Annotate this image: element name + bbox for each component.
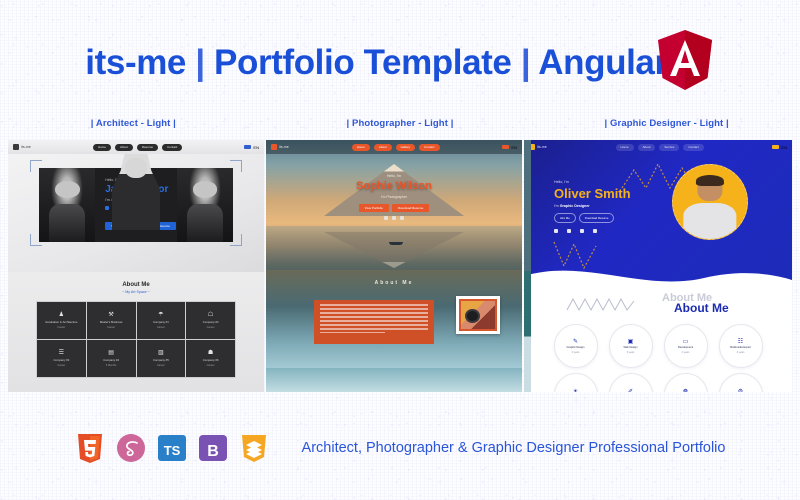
card-icon: ⚙: [738, 389, 743, 392]
designer-name: Oliver Smith: [554, 186, 631, 201]
facebook-icon[interactable]: [384, 216, 388, 220]
card-title: Company #3: [53, 358, 69, 362]
designer-logo[interactable]: its-me: [529, 144, 547, 150]
designer-card[interactable]: ☀ Creativity: [554, 373, 598, 392]
angular-logo: [655, 28, 715, 92]
instagram-icon[interactable]: [400, 216, 404, 220]
card-icon: ▤: [108, 350, 114, 356]
designer-about-heading-row: About Me About Me: [524, 290, 792, 320]
card-icon: ☷: [738, 339, 743, 345]
panel-labels: | Architect - Light | | Photographer - L…: [0, 118, 800, 129]
avatar-body: [683, 203, 736, 239]
card-title: Master's Business: [100, 320, 123, 324]
architect-about-subheading: ~ My Art Space ~: [8, 290, 264, 294]
designer-card[interactable]: ▣ Web Design 3 years: [609, 324, 653, 368]
photographer-hero-text: Hello, I'm Sophie Wilson I'm Photographe…: [266, 174, 522, 220]
language-flag-icon[interactable]: [502, 145, 509, 149]
designer-panel-left-edge: [524, 140, 531, 392]
text-line: [320, 324, 428, 326]
nav-item-service[interactable]: Service: [659, 144, 679, 151]
nav-item-about[interactable]: About: [115, 144, 133, 151]
card-note: Career: [57, 364, 65, 367]
photographer-greeting: Hello, I'm: [266, 174, 522, 178]
architect-about-section: About Me ~ My Art Space ~ ♟ Graduation i…: [8, 272, 264, 392]
svg-text:B: B: [207, 443, 219, 460]
label-architect: | Architect - Light |: [0, 118, 267, 129]
nav-item-resume[interactable]: Resume: [137, 144, 158, 151]
zigzag-decoration: [566, 296, 636, 312]
twitter-icon[interactable]: [392, 216, 396, 220]
card-icon: ✐: [628, 389, 633, 392]
architect-navbar[interactable]: its-me Home About Resume Contact EN: [8, 140, 264, 154]
architect-portrait-right: [177, 168, 233, 242]
text-line: [320, 320, 428, 322]
card-icon: ☀: [573, 389, 578, 392]
designer-about-heading: About Me: [674, 301, 729, 315]
squiggle-decoration-left: [552, 236, 606, 272]
architect-nav-links[interactable]: Home About Resume Contact: [93, 144, 182, 151]
avatar-hair: [696, 175, 724, 187]
designer-about-grid: ✎ Graphic Design 2 years ▣ Web Design 3 …: [551, 324, 765, 392]
nav-item-about[interactable]: About: [638, 144, 656, 151]
title-separator-2: |: [521, 43, 530, 82]
photographer-cta-primary[interactable]: View Portfolio: [359, 204, 389, 212]
card-note: 3 years: [627, 351, 635, 354]
designer-card[interactable]: ✐ Social Skills: [609, 373, 653, 392]
card-title: Company #1: [153, 320, 169, 324]
designer-cta-group[interactable]: Hire Me Download Resume: [554, 213, 631, 223]
bootstrap-icon: B: [198, 432, 228, 464]
text-line: [320, 316, 428, 318]
card-icon: ▣: [628, 339, 634, 345]
typescript-icon: TS: [157, 432, 187, 464]
language-flag-icon[interactable]: [772, 145, 779, 149]
logo-text: its-me: [537, 145, 547, 149]
architect-card[interactable]: ♟ Graduation in Architecture Career: [37, 302, 86, 339]
card-icon: ▭: [683, 339, 689, 345]
architect-card[interactable]: ▥ Company #5 Career: [137, 340, 186, 377]
card-note: Career: [207, 326, 215, 329]
dribbble-icon[interactable]: [593, 229, 597, 233]
card-title: Multimedia Expert: [730, 346, 751, 349]
card-icon: ⚒: [108, 312, 113, 318]
layers-icon: [239, 432, 269, 464]
photographer-role: I'm Photographer: [266, 195, 522, 199]
card-title: Graphic Design: [567, 346, 585, 349]
photographer-role-prefix: I'm: [381, 195, 385, 199]
photographer-cta-group[interactable]: View Portfolio Download Resume: [266, 204, 522, 212]
designer-cta-secondary[interactable]: Download Resume: [579, 213, 615, 223]
designer-navbar[interactable]: its-me Home About Service Contact EN: [524, 140, 792, 154]
nav-right-label: EN: [781, 145, 787, 150]
card-note: Career: [57, 326, 65, 329]
designer-nav-right[interactable]: EN: [772, 145, 787, 150]
card-note: 2 years: [737, 351, 745, 354]
preview-architect-light[interactable]: Hello, I'm James Taylor I'm Architect: [8, 140, 264, 392]
facebook-icon[interactable]: [105, 206, 109, 210]
designer-cta-primary[interactable]: Hire Me: [554, 213, 576, 223]
card-note: 2 years: [572, 351, 580, 354]
architect-role-prefix: I'm: [105, 198, 109, 202]
architect-about-grid: ♟ Graduation in Architecture Career ⚒ Ma…: [36, 301, 236, 378]
photographer-name: Sophie Wilson: [266, 180, 522, 192]
title-part-3: Angular: [538, 43, 667, 82]
card-title: Web Design: [623, 346, 637, 349]
photographer-navbar[interactable]: its-me Home About Gallery Contact EN: [266, 140, 522, 154]
twitter-icon[interactable]: [567, 229, 571, 233]
card-note: 2 years: [682, 351, 690, 354]
card-note: 5 Months: [106, 364, 117, 367]
logo-mark-icon: [271, 144, 277, 150]
preview-graphic-designer-light[interactable]: Hello, I'm Oliver Smith I'm Graphic Desi…: [524, 140, 792, 392]
text-line: [320, 312, 428, 314]
photographer-bottom-band: [266, 368, 522, 392]
architect-card[interactable]: ☰ Company #3 Career: [37, 340, 86, 377]
logo-mark-icon: [13, 144, 19, 150]
logo-text: its-me: [21, 145, 31, 149]
photographer-about-photo: [456, 296, 500, 334]
facebook-icon[interactable]: [554, 229, 558, 233]
designer-card[interactable]: ☸ Organized Skills: [664, 373, 708, 392]
poster-footer: TS B Architect, Photographer & Graphic D…: [0, 432, 800, 464]
photographer-about-text-card: [314, 300, 434, 344]
instagram-icon[interactable]: [580, 229, 584, 233]
architect-card[interactable]: ▤ Company #4 5 Months: [87, 340, 136, 377]
architect-about-heading: About Me: [8, 282, 264, 288]
boat-art: [389, 242, 403, 245]
card-title: Graduation in Architecture: [45, 320, 77, 324]
title-part-1: its-me: [85, 43, 186, 82]
designer-role-value: Graphic Designer: [560, 204, 590, 208]
designer-card[interactable]: ⚙ Creative Attitude: [719, 373, 763, 392]
camera-portrait-art: [459, 299, 497, 331]
nav-item-contact[interactable]: Contact: [162, 144, 182, 151]
nav-right-label: EN: [253, 145, 259, 150]
page-title: its-me | Portfolio Template | Angular: [85, 43, 667, 83]
sass-icon: [116, 432, 146, 464]
card-icon: ☂: [158, 312, 163, 318]
preview-photographer-light[interactable]: Hello, I'm Sophie Wilson I'm Photographe…: [266, 140, 522, 392]
designer-avatar: [672, 164, 748, 240]
photographer-cta-secondary[interactable]: Download Resume: [392, 204, 429, 212]
poster-header: its-me | Portfolio Template | Angular: [0, 34, 800, 92]
card-note: Career: [157, 364, 165, 367]
text-line: [320, 328, 428, 330]
nav-item-home[interactable]: Home: [93, 144, 111, 151]
card-note: Career: [157, 326, 165, 329]
designer-greeting: Hello, I'm: [554, 180, 631, 184]
title-part-2: Portfolio Template: [214, 43, 511, 82]
designer-about-section: About Me About Me ✎ Graphic Design 2 yea…: [524, 290, 792, 392]
designer-social-icons[interactable]: [554, 229, 631, 233]
photographer-social-icons[interactable]: [266, 216, 522, 220]
card-note: Career: [207, 364, 215, 367]
html5-icon: [75, 432, 105, 464]
designer-hero-text: Hello, I'm Oliver Smith I'm Graphic Desi…: [554, 180, 631, 233]
nav-item-about[interactable]: About: [374, 144, 392, 151]
card-note: Career: [107, 326, 115, 329]
photographer-role-value: Photographer: [386, 195, 407, 199]
title-separator-1: |: [195, 43, 204, 82]
card-icon: ♟: [59, 312, 64, 318]
footer-tagline: Architect, Photographer & Graphic Design…: [302, 440, 726, 456]
preview-panels: Hello, I'm James Taylor I'm Architect: [8, 140, 792, 392]
text-line: [320, 308, 428, 310]
architect-card[interactable]: ⚒ Master's Business Career: [87, 302, 136, 339]
photographer-nav-links[interactable]: Home About Gallery Contact: [352, 144, 440, 151]
language-flag-icon[interactable]: [244, 145, 251, 149]
designer-card[interactable]: ☷ Multimedia Expert 2 years: [719, 324, 763, 368]
nav-item-contact[interactable]: Contact: [419, 144, 439, 151]
card-title: Development: [678, 346, 693, 349]
nav-item-home[interactable]: Home: [616, 144, 634, 151]
card-icon: ☰: [59, 350, 64, 356]
designer-role-prefix: I'm: [554, 204, 559, 208]
card-title: Company #5: [153, 358, 169, 362]
tech-stack-icons: TS B: [75, 432, 269, 464]
card-icon: ☖: [208, 312, 213, 318]
card-icon: ✎: [573, 339, 578, 345]
nav-item-contact[interactable]: Contact: [683, 144, 703, 151]
nav-item-home[interactable]: Home: [352, 144, 370, 151]
architect-logo[interactable]: its-me: [13, 144, 31, 150]
logo-text: its-me: [279, 145, 289, 149]
nav-item-gallery[interactable]: Gallery: [396, 144, 416, 151]
poster-root: its-me | Portfolio Template | Angular | …: [0, 0, 800, 500]
card-title: Company #6: [203, 358, 219, 362]
designer-role: I'm Graphic Designer: [554, 204, 631, 208]
label-graphic-designer: | Graphic Designer - Light |: [533, 118, 800, 129]
designer-nav-links[interactable]: Home About Service Contact: [616, 144, 704, 151]
text-line: [320, 304, 428, 306]
svg-text:TS: TS: [163, 443, 180, 458]
architect-card[interactable]: ☗ Company #6 Career: [186, 340, 235, 377]
card-icon: ☸: [683, 389, 688, 392]
photographer-logo[interactable]: its-me: [271, 144, 289, 150]
designer-card[interactable]: ✎ Graphic Design 2 years: [554, 324, 598, 368]
label-photographer: | Photographer - Light |: [267, 118, 534, 129]
nav-right-label: EN: [511, 145, 517, 150]
card-title: Company #4: [103, 358, 119, 362]
architect-card[interactable]: ☖ Company #2 Career: [186, 302, 235, 339]
card-title: Company #2: [203, 320, 219, 324]
designer-card[interactable]: ▭ Development 2 years: [664, 324, 708, 368]
architect-nav-right[interactable]: EN: [244, 145, 259, 150]
card-icon: ☗: [208, 350, 213, 356]
card-icon: ▥: [158, 350, 164, 356]
text-line: [320, 332, 385, 334]
photographer-nav-right[interactable]: EN: [502, 145, 517, 150]
architect-card[interactable]: ☂ Company #1 Career: [137, 302, 186, 339]
architect-portrait-left: [39, 168, 95, 242]
photographer-about-heading: About Me: [266, 280, 522, 286]
